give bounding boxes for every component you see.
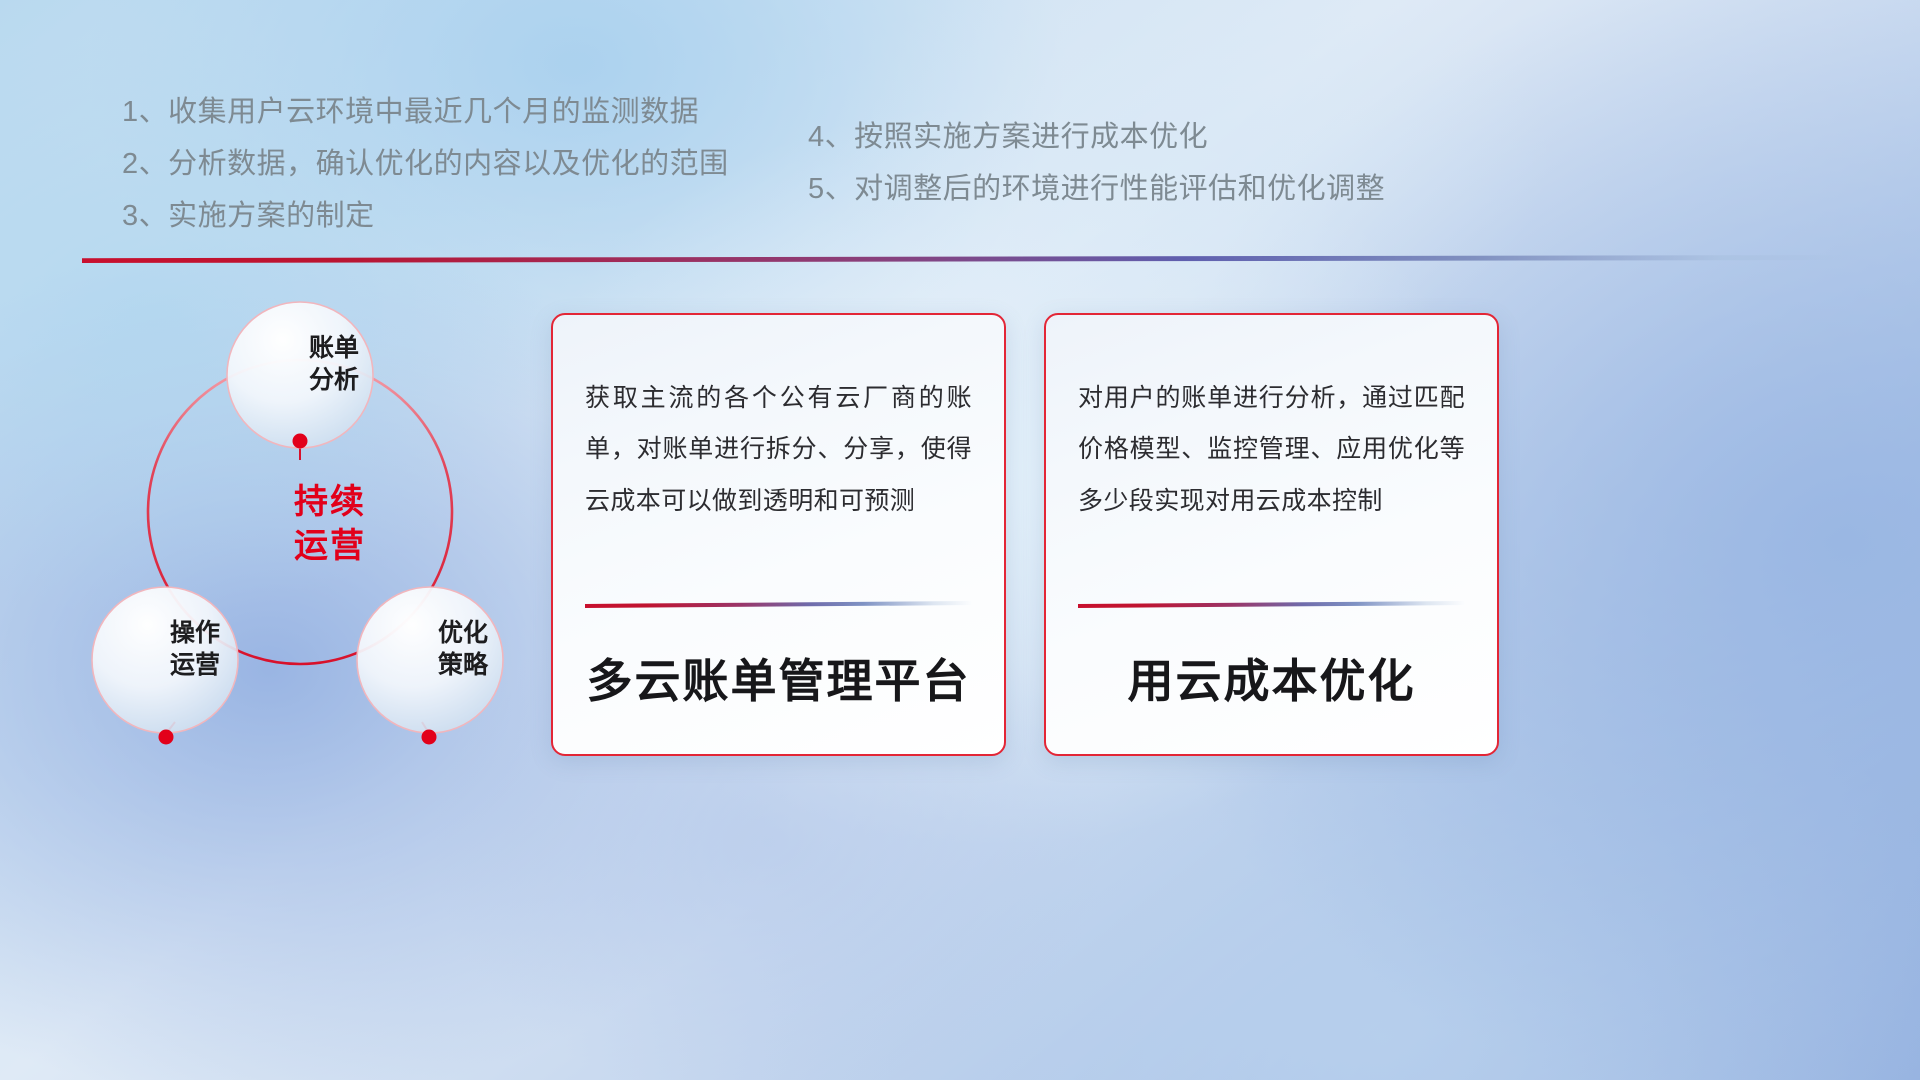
card-cloud-cost-optimization[interactable]: 对用户的账单进行分析，通过匹配价格模型、监控管理、应用优化等多少段实现对用云成本… xyxy=(1044,313,1499,756)
diagram-node-optimization-strategy-line1: 优化 xyxy=(408,618,518,650)
diagram-center-label-line1: 持续 xyxy=(260,480,400,524)
continuous-operations-diagram: 账单 分析 操作 运营 优化 策略 持续 运营 xyxy=(78,285,548,770)
junction-dot-left xyxy=(159,730,174,745)
process-step-4: 4、按照实施方案进行成本优化 xyxy=(808,123,1385,152)
card-2-divider xyxy=(1078,601,1465,608)
card-1-divider xyxy=(585,601,972,608)
card-multi-cloud-billing-platform[interactable]: 获取主流的各个公有云厂商的账单，对账单进行拆分、分享，使得云成本可以做到透明和可… xyxy=(551,313,1006,756)
process-steps-left-column: 1、收集用户云环境中最近几个月的监测数据 2、分析数据，确认优化的内容以及优化的… xyxy=(122,98,729,231)
process-step-3: 3、实施方案的制定 xyxy=(122,202,729,231)
diagram-node-operations-line1: 操作 xyxy=(140,618,250,650)
junction-dot-top xyxy=(293,434,308,449)
process-step-2: 2、分析数据，确认优化的内容以及优化的范围 xyxy=(122,150,729,179)
junction-dot-right xyxy=(422,730,437,745)
card-1-title: 多云账单管理平台 xyxy=(553,645,1004,711)
process-step-1: 1、收集用户云环境中最近几个月的监测数据 xyxy=(122,98,729,127)
diagram-node-billing-analysis-line2: 分析 xyxy=(274,365,394,397)
diagram-center-label: 持续 运营 xyxy=(260,480,400,568)
process-step-5: 5、对调整后的环境进行性能评估和优化调整 xyxy=(808,175,1385,204)
diagram-node-billing-analysis: 账单 分析 xyxy=(274,333,394,396)
diagram-node-operations: 操作 运营 xyxy=(140,618,250,681)
diagram-node-operations-line2: 运营 xyxy=(140,650,250,682)
diagram-node-billing-analysis-line1: 账单 xyxy=(274,333,394,365)
diagram-node-optimization-strategy-line2: 策略 xyxy=(408,650,518,682)
diagram-node-optimization-strategy: 优化 策略 xyxy=(408,618,518,681)
card-1-body-text: 获取主流的各个公有云厂商的账单，对账单进行拆分、分享，使得云成本可以做到透明和可… xyxy=(585,373,972,527)
process-steps-right-column: 4、按照实施方案进行成本优化 5、对调整后的环境进行性能评估和优化调整 xyxy=(808,123,1385,204)
diagram-center-label-line2: 运营 xyxy=(260,524,400,568)
card-2-title: 用云成本优化 xyxy=(1046,645,1497,711)
card-2-body-text: 对用户的账单进行分析，通过匹配价格模型、监控管理、应用优化等多少段实现对用云成本… xyxy=(1078,373,1465,527)
